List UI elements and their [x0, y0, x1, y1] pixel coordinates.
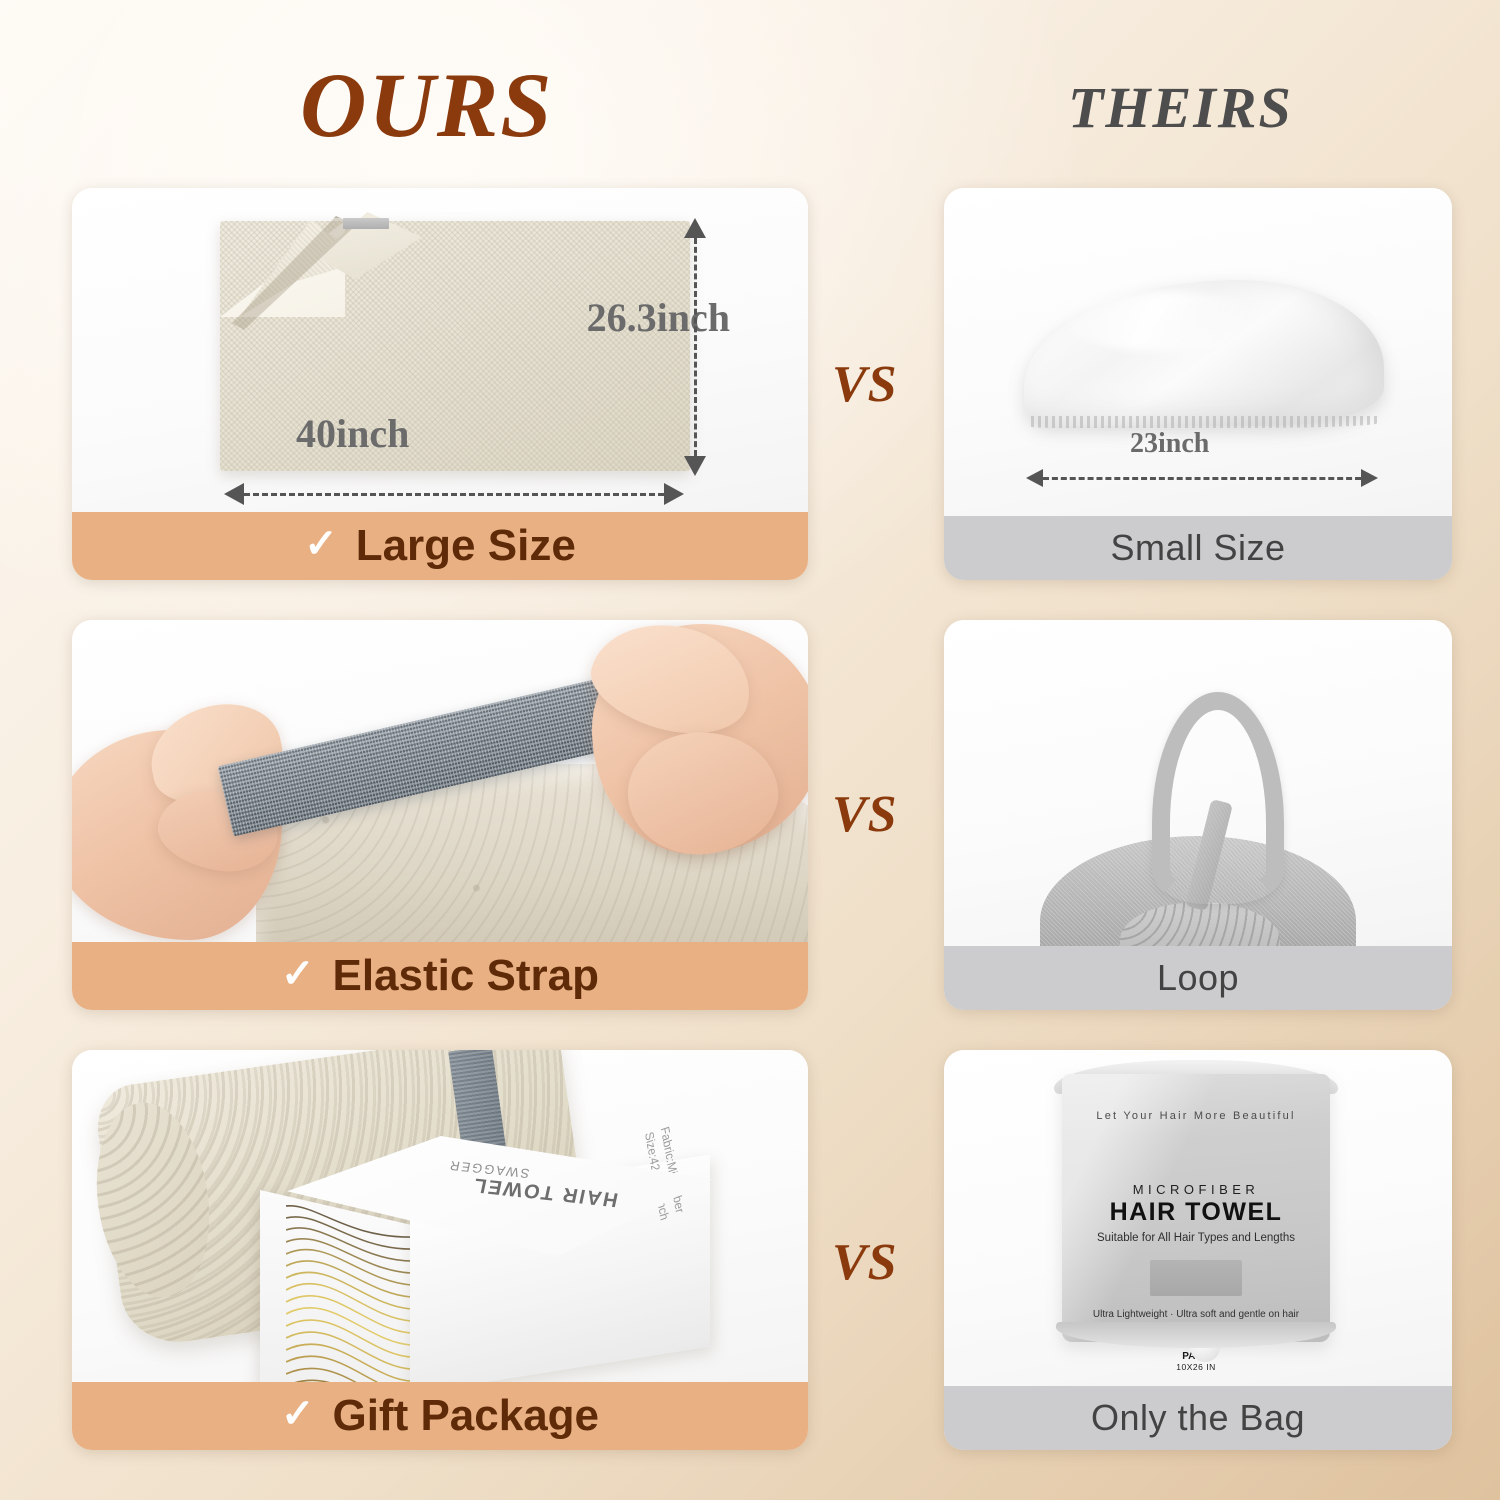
arrow-head-left — [224, 483, 244, 505]
card-theirs-only-the-bag[interactable]: Let Your Hair More Beautiful MICROFIBER … — [944, 1050, 1452, 1450]
arrow-head-top — [684, 218, 706, 238]
arrow-head-right — [664, 483, 684, 505]
arrow-head-right — [1361, 469, 1378, 487]
bag-subtitle: Suitable for All Hair Types and Lengths — [1062, 1232, 1330, 1244]
gift-box-front-panel — [260, 1190, 412, 1382]
poly-bag-body: Let Your Hair More Beautiful MICROFIBER … — [1062, 1074, 1330, 1342]
caption-label: Loop — [1157, 957, 1239, 999]
caption-label: Only the Bag — [1091, 1397, 1305, 1439]
arrow-dashed-line — [694, 238, 697, 456]
heading-ours: OURS — [300, 52, 553, 158]
caption-label: Elastic Strap — [332, 951, 599, 1001]
towel-brand-label-tag — [343, 218, 389, 229]
gold-wave-svg — [286, 1196, 412, 1382]
card-ours-large-size[interactable]: 26.3inch 40inch ✓ Large Size — [72, 188, 808, 580]
caption-bar-ours-gift-package: ✓ Gift Package — [72, 1382, 808, 1450]
caption-bar-theirs-loop: Loop — [944, 946, 1452, 1010]
arrow-head-bottom — [684, 456, 706, 476]
gift-box-subtitle: Super soft for your hair quick dry — [509, 1135, 655, 1163]
caption-label: Large Size — [356, 521, 576, 571]
caption-bar-ours-large-size: ✓ Large Size — [72, 512, 808, 580]
card-ours-gift-package[interactable]: Fabric:Microfiber Size:42 x 25 inch SWAG… — [72, 1050, 808, 1450]
caption-label: Gift Package — [332, 1391, 599, 1441]
vs-marker-row-1: VS — [832, 355, 898, 414]
satin-sheen-highlight — [1064, 292, 1274, 352]
card-ours-elastic-strap[interactable]: ✓ Elastic Strap — [72, 620, 808, 1010]
product-photo-elastic-strap — [72, 620, 808, 942]
product-photo-gift-package: Fabric:Microfiber Size:42 x 25 inch SWAG… — [72, 1050, 808, 1382]
vs-marker-row-3: VS — [832, 1233, 898, 1292]
dimension-label-width: 40inch — [296, 410, 409, 457]
comparison-infographic: OURS THEIRS VS VS VS 26.3inch 40inch — [0, 0, 1500, 1500]
check-icon: ✓ — [281, 954, 315, 994]
arrow-dashed-line — [244, 493, 664, 496]
hanging-loop — [1152, 692, 1284, 904]
product-photo-satin-cap: 23inch — [944, 188, 1452, 516]
bag-title: HAIR TOWEL — [1062, 1198, 1330, 1227]
check-icon: ✓ — [281, 1394, 315, 1434]
product-photo-poly-bag: Let Your Hair More Beautiful MICROFIBER … — [944, 1050, 1452, 1386]
product-photo-towel: 26.3inch 40inch — [72, 188, 808, 512]
bag-microfiber-label: MICROFIBER — [1062, 1182, 1330, 1197]
card-theirs-loop[interactable]: Loop — [944, 620, 1452, 1010]
check-icon: ✓ — [304, 524, 338, 564]
bag-tagline: Let Your Hair More Beautiful — [1062, 1110, 1330, 1122]
gold-wave-pattern — [286, 1196, 412, 1382]
caption-label: Small Size — [1110, 527, 1285, 569]
arrow-dashed-line — [1043, 477, 1361, 480]
dimension-label-height: 26.3inch — [587, 294, 730, 341]
dimension-arrow-horizontal — [1026, 468, 1378, 488]
heading-theirs: THEIRS — [1068, 74, 1293, 141]
caption-bar-theirs-small-size: Small Size — [944, 516, 1452, 580]
caption-bar-ours-elastic-strap: ✓ Elastic Strap — [72, 942, 808, 1010]
caption-bar-theirs-only-the-bag: Only the Bag — [944, 1386, 1452, 1450]
card-theirs-small-size[interactable]: 23inch Small Size — [944, 188, 1452, 580]
bag-size-text: 10X26 IN — [1062, 1362, 1330, 1372]
bag-bullet-line-1: Ultra Lightweight · Ultra soft and gentl… — [1062, 1308, 1330, 1322]
vs-marker-row-2: VS — [832, 785, 898, 844]
dimension-arrow-vertical — [684, 218, 706, 476]
product-photo-loop — [944, 620, 1452, 946]
gift-box-title: HAIR TOWEL — [470, 1173, 620, 1211]
bag-window-patch — [1150, 1260, 1242, 1296]
gift-box: Fabric:Microfiber Size:42 x 25 inch SWAG… — [260, 1136, 730, 1382]
arrow-head-left — [1026, 469, 1043, 487]
dimension-arrow-horizontal — [224, 483, 684, 505]
dimension-label-width: 23inch — [1130, 428, 1209, 460]
